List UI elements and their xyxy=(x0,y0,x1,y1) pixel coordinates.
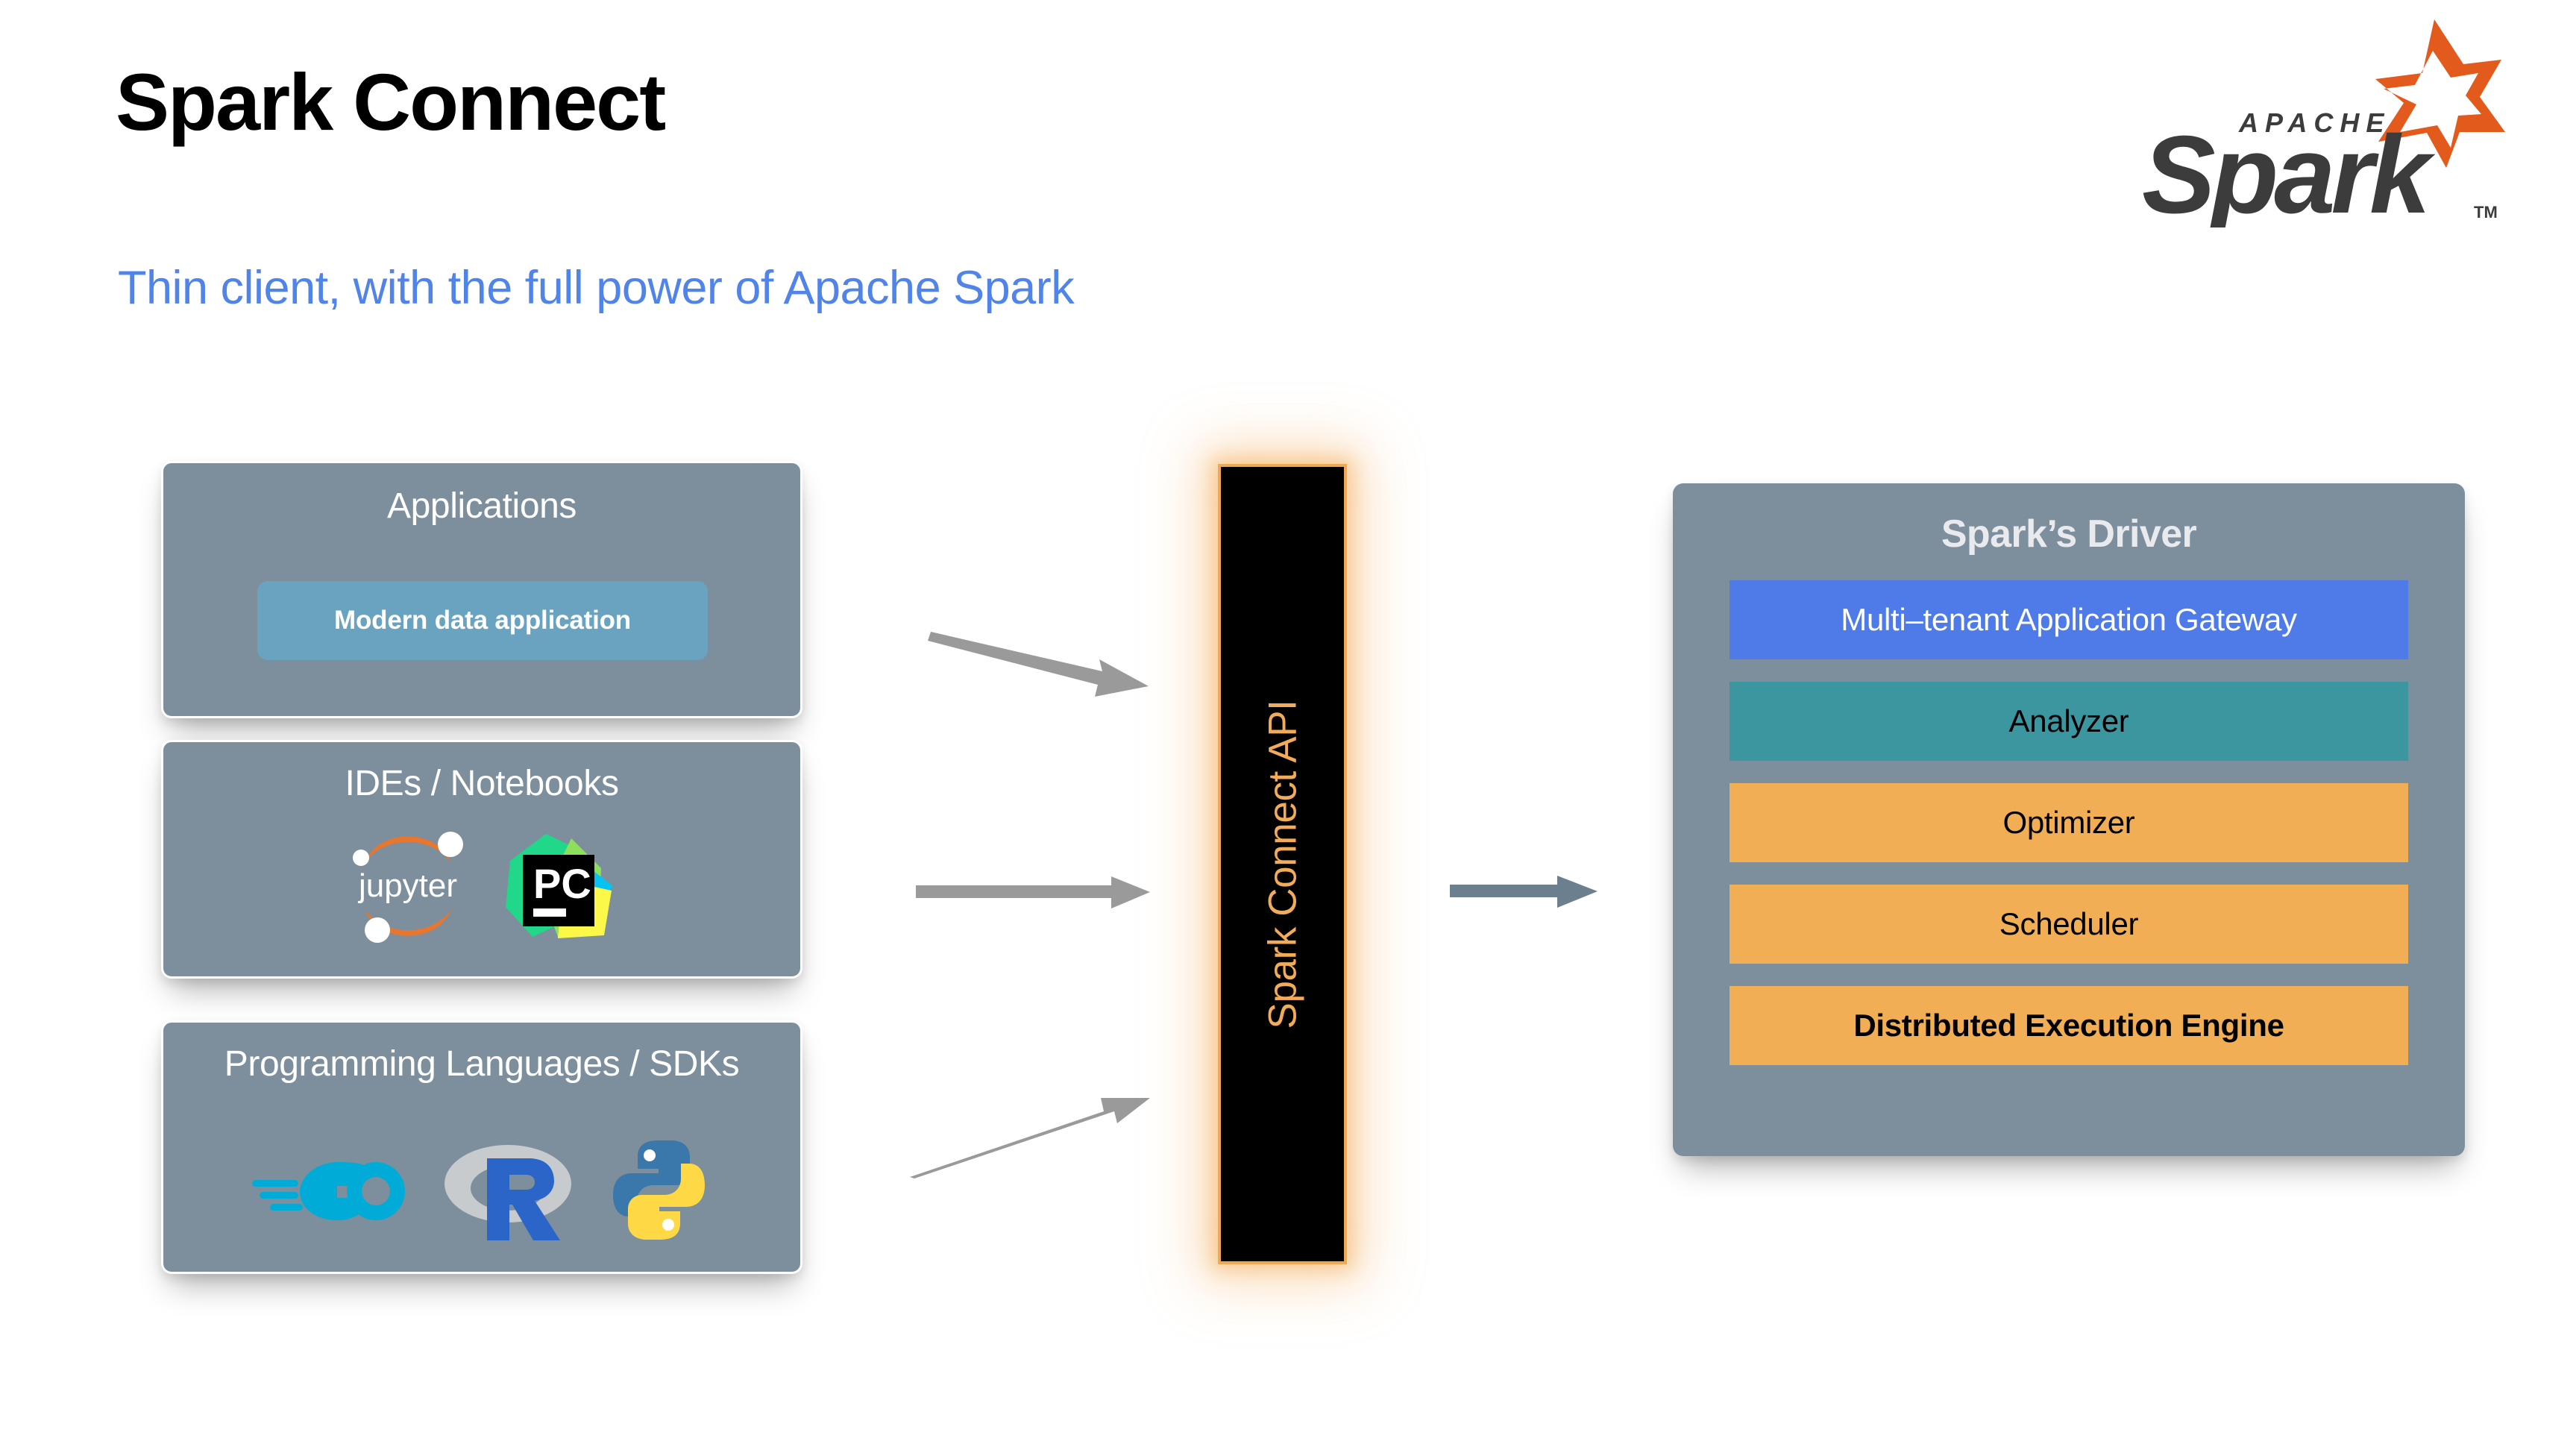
driver-layer-optimizer[interactable]: Optimizer xyxy=(1730,783,2408,862)
spark-driver-panel: Spark’s Driver Multi–tenant Application … xyxy=(1673,483,2465,1156)
driver-layer-label: Multi–tenant Application Gateway xyxy=(1841,602,2296,638)
modern-data-application-label: Modern data application xyxy=(334,606,631,635)
client-box-title: Programming Languages / SDKs xyxy=(163,1043,800,1086)
spark-driver-title: Spark’s Driver xyxy=(1730,512,2408,556)
driver-layer-scheduler[interactable]: Scheduler xyxy=(1730,885,2408,964)
page-title: Spark Connect xyxy=(116,58,665,147)
driver-layer-label: Scheduler xyxy=(1999,906,2138,942)
go-icon xyxy=(251,1146,411,1239)
jupyter-wordmark: jupyter xyxy=(356,867,456,904)
slide-canvas: Spark Connect Thin client, with the full… xyxy=(0,0,2576,1447)
client-box-programming-languages[interactable]: Programming Languages / SDKs xyxy=(161,1020,802,1274)
client-box-applications[interactable]: Applications Modern data application xyxy=(161,461,802,718)
trademark-mark: TM xyxy=(2474,203,2498,222)
client-box-title: Applications xyxy=(163,486,800,528)
page-subtitle: Thin client, with the full power of Apac… xyxy=(118,261,1074,315)
spark-wordmark: Spark xyxy=(2142,113,2436,227)
arrow-languages-to-api xyxy=(880,1052,1193,1178)
python-icon xyxy=(605,1136,713,1248)
client-box-ides-notebooks[interactable]: IDEs / Notebooks jupyter xyxy=(161,740,802,979)
ide-logo-row: jupyter PC xyxy=(163,820,800,956)
driver-layer-label: Analyzer xyxy=(2008,703,2129,739)
arrow-api-to-driver xyxy=(1410,850,1633,925)
modern-data-application-card[interactable]: Modern data application xyxy=(257,581,708,660)
arrow-ides-to-api xyxy=(880,843,1193,932)
spark-connect-api-bar[interactable]: Spark Connect API xyxy=(1218,464,1347,1264)
driver-layer-analyzer[interactable]: Analyzer xyxy=(1730,682,2408,761)
jupyter-icon: jupyter xyxy=(342,820,474,956)
driver-layer-label: Distributed Execution Engine xyxy=(1853,1008,2284,1043)
pycharm-icon: PC xyxy=(500,825,623,952)
spark-connect-api-label: Spark Connect API xyxy=(1260,700,1305,1029)
apache-spark-logo: APACHE Spark TM xyxy=(2134,15,2507,227)
driver-layer-label: Optimizer xyxy=(2003,805,2135,841)
language-logo-row xyxy=(163,1136,800,1248)
r-icon xyxy=(441,1136,575,1248)
driver-layer-multi-tenant-application-gateway[interactable]: Multi–tenant Application Gateway xyxy=(1730,580,2408,659)
pycharm-wordmark: PC xyxy=(533,860,591,907)
driver-layer-distributed-execution-engine[interactable]: Distributed Execution Engine xyxy=(1730,986,2408,1065)
client-box-title: IDEs / Notebooks xyxy=(163,763,800,806)
arrow-applications-to-api xyxy=(880,612,1193,716)
